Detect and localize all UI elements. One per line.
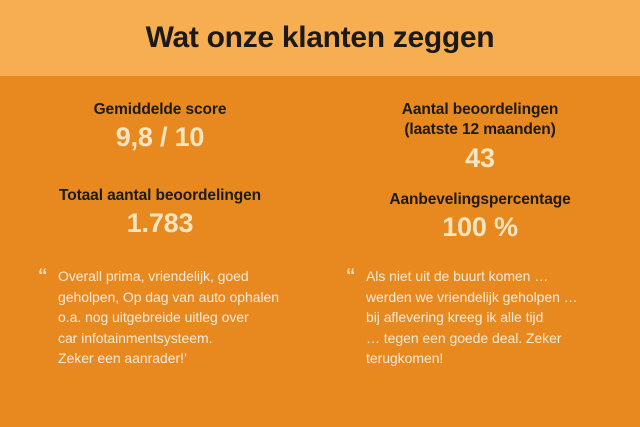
stat-value-total-reviews: 1.783 [0, 208, 320, 239]
stat-total-reviews: Totaal aantal beoordelingen 1.783 [0, 186, 320, 240]
quote-mark-icon: “ [38, 267, 47, 286]
testimonials-section: “ Overall prima, vriendelijk, goed gehol… [0, 266, 640, 427]
statistics-section: Gemiddelde score 9,8 / 10 Totaal aantal … [0, 76, 640, 258]
page-title: Wat onze klanten zeggen [146, 23, 495, 53]
panel-header: Wat onze klanten zeggen [0, 0, 640, 76]
stat-average-score: Gemiddelde score 9,8 / 10 [0, 100, 320, 154]
stats-column-right: Aantal beoordelingen (laatste 12 maanden… [320, 76, 640, 258]
stat-value-recommendation-rate: 100 % [320, 212, 640, 243]
stats-column-left: Gemiddelde score 9,8 / 10 Totaal aantal … [0, 76, 320, 258]
stat-recommendation-rate: Aanbevelingspercentage 100 % [320, 190, 640, 244]
quote-mark-icon: “ [346, 267, 355, 286]
testimonial-right: “ Als niet uit de buurt komen … werden w… [320, 266, 640, 427]
stat-label-total-reviews: Totaal aantal beoordelingen [0, 186, 320, 206]
stat-value-reviews-last-12-months: 43 [320, 143, 640, 174]
testimonial-text-left: Overall prima, vriendelijk, goed geholpe… [58, 266, 298, 369]
testimonial-left: “ Overall prima, vriendelijk, goed gehol… [0, 266, 320, 427]
stat-value-average-score: 9,8 / 10 [0, 122, 320, 153]
stat-label-average-score: Gemiddelde score [0, 100, 320, 120]
stat-label-reviews-last-12-months: Aantal beoordelingen (laatste 12 maanden… [320, 100, 640, 141]
stat-label-recommendation-rate: Aanbevelingspercentage [320, 190, 640, 210]
stat-reviews-last-12-months: Aantal beoordelingen (laatste 12 maanden… [320, 100, 640, 174]
reviews-panel: Wat onze klanten zeggen Gemiddelde score… [0, 0, 640, 427]
testimonial-text-right: Als niet uit de buurt komen … werden we … [366, 266, 620, 369]
